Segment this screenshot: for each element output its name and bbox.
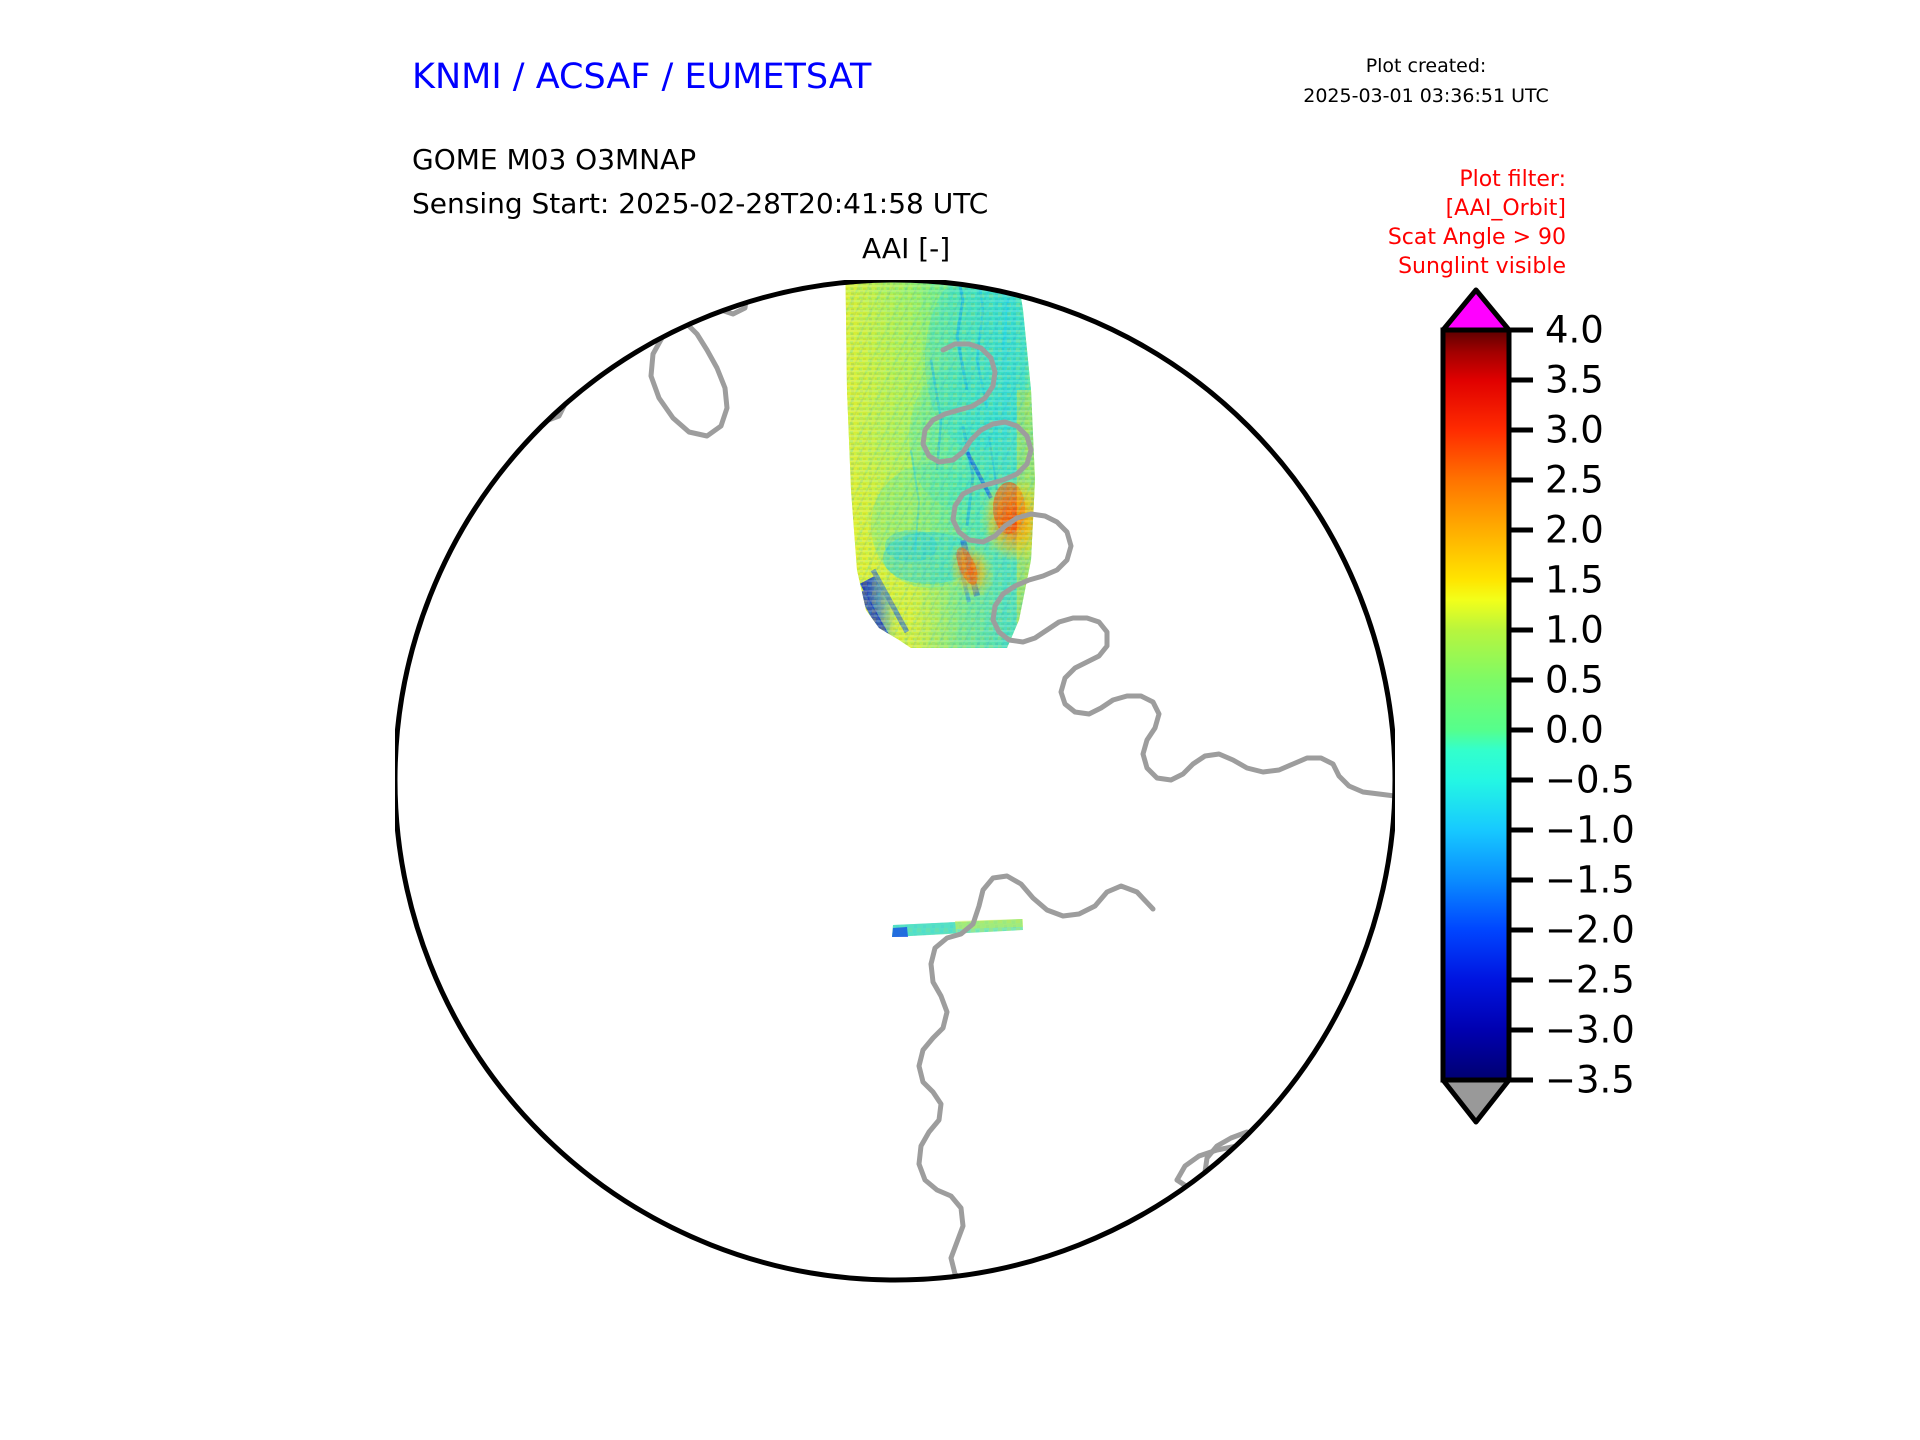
- sensing-start-label: Sensing Start: 2025-02-28T20:41:58 UTC: [412, 187, 988, 220]
- colorbar-over-arrow: [1443, 290, 1509, 330]
- colorbar-tick-label: −0.5: [1545, 759, 1635, 802]
- colorbar-tick-label: −1.5: [1545, 859, 1635, 902]
- plot-filter-line-3: Scat Angle > 90: [1186, 223, 1566, 252]
- colorbar-tick-label: 2.0: [1545, 509, 1604, 552]
- organisation-header: KNMI / ACSAF / EUMETSAT: [412, 57, 871, 97]
- coastline-tasmania: [519, 372, 567, 422]
- plot-filter-line-4: Sunglint visible: [1186, 252, 1566, 281]
- colorbar-under-arrow: [1443, 1080, 1509, 1122]
- colorbar-tick-labels: 4.0 3.5 3.0 2.5 2.0 1.5 1.0 0.5 0.0 −0.5…: [1545, 309, 1635, 1102]
- colorbar-tick-label: 0.5: [1545, 659, 1604, 702]
- colorbar-tick-label: −2.0: [1545, 909, 1635, 952]
- colorbar-tick-label: 0.0: [1545, 709, 1604, 752]
- coastline-island-small: [445, 1242, 467, 1272]
- colorbar: 4.0 3.5 3.0 2.5 2.0 1.5 1.0 0.5 0.0 −0.5…: [1430, 280, 1690, 1340]
- plot-filter-line-1: Plot filter:: [1186, 165, 1566, 194]
- colorbar-tick-label: 3.5: [1545, 359, 1604, 402]
- instrument-product-label: GOME M03 O3MNAP: [412, 143, 696, 176]
- plot-created-label: Plot created:: [1291, 55, 1561, 77]
- colorbar-tick-label: 4.0: [1545, 309, 1604, 352]
- colorbar-tick-label: 1.0: [1545, 609, 1604, 652]
- colorbar-tick-label: 2.5: [1545, 459, 1604, 502]
- coastline-island-patagonia: [1205, 1224, 1225, 1248]
- colorbar-tick-label: −3.0: [1545, 1009, 1635, 1052]
- colorbar-ticks: [1509, 330, 1533, 1080]
- colorbar-tick-label: −2.5: [1545, 959, 1635, 1002]
- polar-map: [395, 280, 1395, 1340]
- page-title: AAI [-]: [862, 232, 950, 265]
- colorbar-tick-label: −3.5: [1545, 1059, 1635, 1102]
- colorbar-tick-label: 1.5: [1545, 559, 1604, 602]
- map-canvas: [395, 280, 1395, 1340]
- plot-page: KNMI / ACSAF / EUMETSAT Plot created: 20…: [0, 0, 1920, 1440]
- plot-filter-annotation: Plot filter: [AAI_Orbit] Scat Angle > 90…: [1186, 165, 1566, 281]
- colorbar-tick-label: 3.0: [1545, 409, 1604, 452]
- plot-filter-line-2: [AAI_Orbit]: [1186, 194, 1566, 223]
- coastline-southern-australia: [491, 280, 575, 338]
- colorbar-gradient: [1443, 330, 1509, 1080]
- colorbar-canvas: 4.0 3.5 3.0 2.5 2.0 1.5 1.0 0.5 0.0 −0.5…: [1430, 280, 1690, 1340]
- colorbar-tick-label: −1.0: [1545, 809, 1635, 852]
- plot-created-timestamp: 2025-03-01 03:36:51 UTC: [1291, 85, 1561, 107]
- coastline-south-america-east: [1177, 1180, 1345, 1340]
